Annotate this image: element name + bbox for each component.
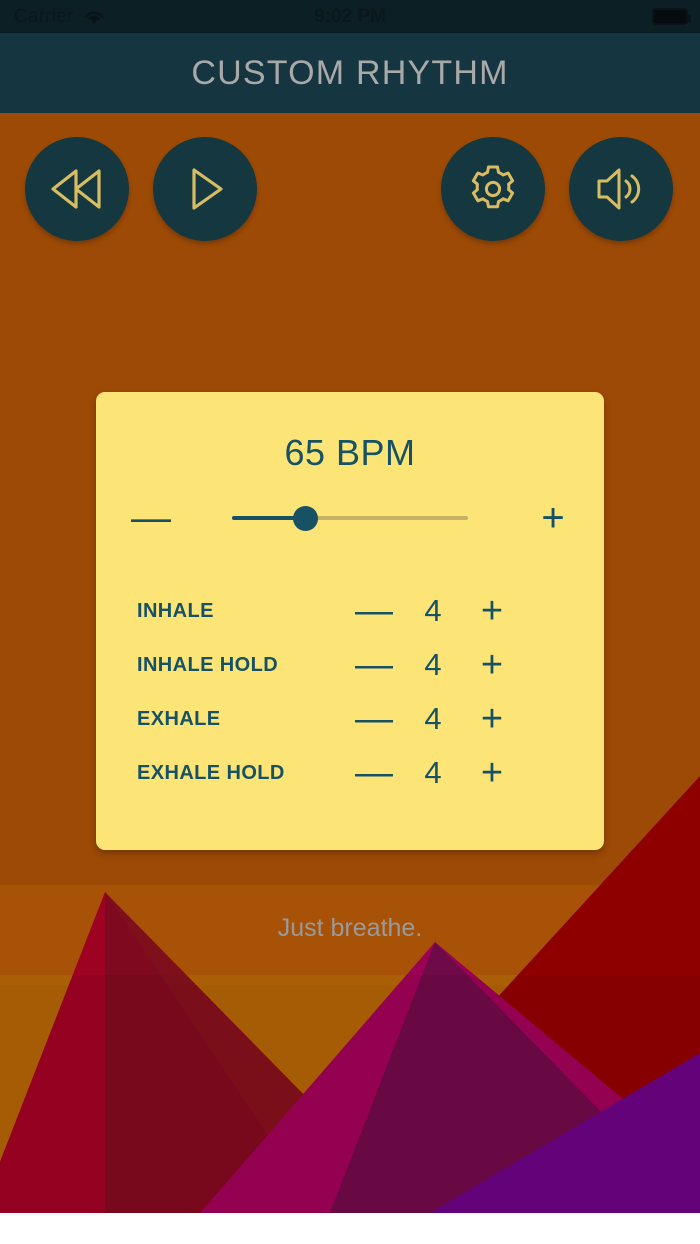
gear-icon [467, 163, 519, 215]
phase-decrease-button[interactable]: — [352, 638, 396, 692]
battery-full-icon [652, 8, 688, 25]
phase-increase-button[interactable]: + [470, 638, 514, 692]
phase-label: EXHALE HOLD [137, 762, 285, 785]
rewind-button[interactable] [25, 137, 129, 241]
play-icon [183, 165, 227, 213]
phase-label: INHALE HOLD [137, 654, 278, 677]
phase-decrease-button[interactable]: — [352, 584, 396, 638]
rhythm-card: 65 BPM — + INHALE — 4 + INHALE HOLD — 4 … [96, 392, 604, 850]
bpm-value-label: 65 BPM [96, 432, 604, 474]
phase-row-inhale: INHALE — 4 + [96, 584, 604, 638]
phase-list: INHALE — 4 + INHALE HOLD — 4 + EXHALE — … [96, 584, 604, 800]
home-indicator-area [0, 1213, 700, 1244]
tagline-text: Just breathe. [0, 914, 700, 943]
play-button[interactable] [153, 137, 257, 241]
status-bar: Carrier 9:02 PM [0, 0, 700, 33]
settings-button[interactable] [441, 137, 545, 241]
nav-bar: CUSTOM RHYTHM [0, 33, 700, 113]
phase-value: 4 [410, 701, 456, 737]
page-title: CUSTOM RHYTHM [191, 54, 508, 93]
phase-value: 4 [410, 755, 456, 791]
phase-row-inhale-hold: INHALE HOLD — 4 + [96, 638, 604, 692]
transport-controls [0, 137, 700, 247]
phase-increase-button[interactable]: + [470, 584, 514, 638]
phase-increase-button[interactable]: + [470, 746, 514, 800]
volume-button[interactable] [569, 137, 673, 241]
app-screen: Carrier 9:02 PM CUSTOM RHYTHM [0, 0, 700, 1244]
phase-row-exhale: EXHALE — 4 + [96, 692, 604, 746]
phase-label: INHALE [137, 600, 214, 623]
phase-value: 4 [410, 593, 456, 629]
phase-label: EXHALE [137, 708, 221, 731]
phase-value: 4 [410, 647, 456, 683]
status-bar-left: Carrier [0, 6, 107, 28]
status-time: 9:02 PM [314, 6, 386, 28]
carrier-label: Carrier [14, 6, 73, 28]
status-bar-right [652, 0, 688, 33]
phase-decrease-button[interactable]: — [352, 692, 396, 746]
phase-row-exhale-hold: EXHALE HOLD — 4 + [96, 746, 604, 800]
bpm-slider-thumb[interactable] [293, 506, 318, 531]
speaker-icon [594, 164, 648, 214]
bpm-slider[interactable] [232, 492, 468, 544]
bpm-slider-row: — + [96, 492, 604, 544]
bpm-decrease-button[interactable]: — [128, 492, 174, 544]
phase-increase-button[interactable]: + [470, 692, 514, 746]
bpm-increase-button[interactable]: + [530, 492, 576, 544]
wifi-icon [81, 7, 107, 26]
rewind-icon [46, 165, 108, 213]
phase-decrease-button[interactable]: — [352, 746, 396, 800]
